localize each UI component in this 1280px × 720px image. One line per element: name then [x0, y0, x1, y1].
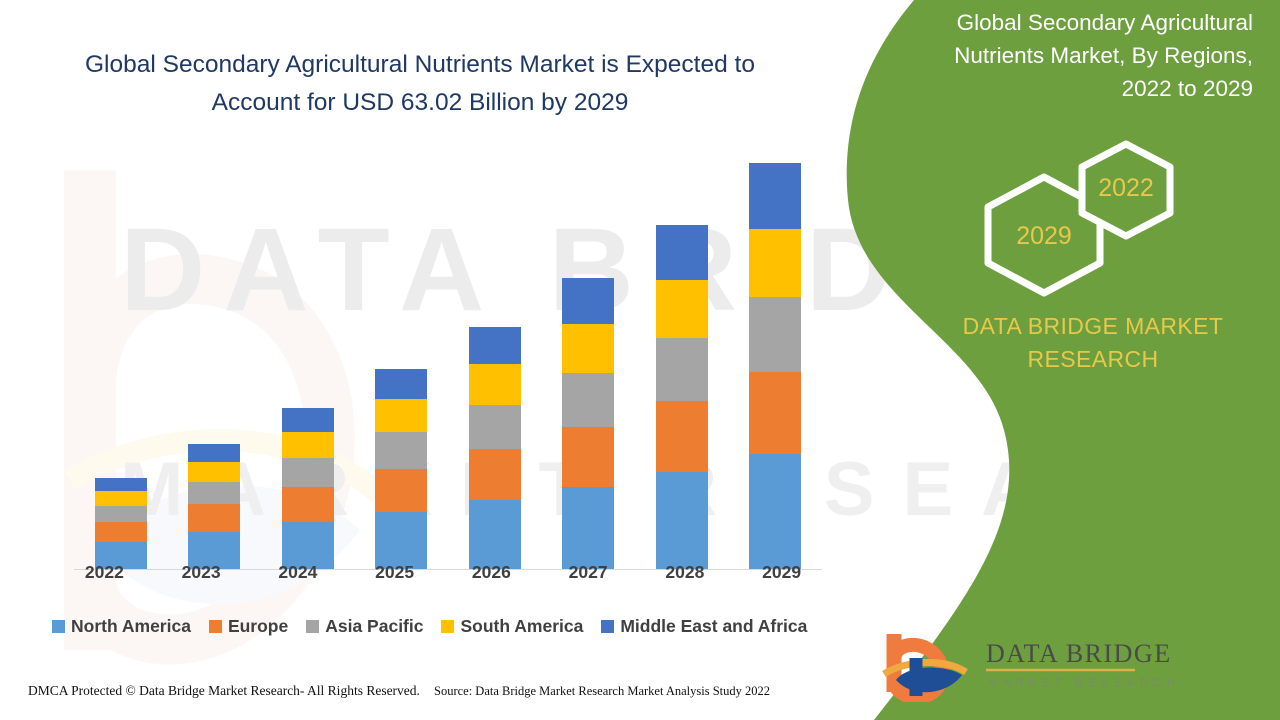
- chart-x-label: 2025: [369, 562, 421, 583]
- chart-bar-segment: [95, 506, 147, 522]
- chart-bar-segment: [656, 280, 708, 338]
- legend-label: South America: [460, 616, 583, 637]
- chart-bar-segment: [282, 458, 334, 488]
- infographic-root: DATA BRIDGE MARKET RESEARCH Global Secon…: [0, 0, 1280, 720]
- chart-bar: [749, 163, 801, 569]
- logo-primary-text: DATA BRIDGE: [986, 639, 1172, 668]
- hexagon-badges: 2029 2022: [978, 140, 1208, 300]
- chart-bar-segment: [188, 462, 240, 482]
- chart-bar-segment: [656, 338, 708, 401]
- chart-bar-segment: [282, 432, 334, 458]
- chart-bar-segment: [95, 478, 147, 490]
- footer-copyright: DMCA Protected © Data Bridge Market Rese…: [28, 683, 420, 699]
- chart-bar-segment: [188, 444, 240, 462]
- chart-bar-segment: [749, 163, 801, 229]
- chart-bar: [375, 369, 427, 569]
- chart-bar: [95, 478, 147, 569]
- chart-bars: [74, 150, 822, 569]
- chart-bar-segment: [562, 324, 614, 373]
- chart-bar-segment: [469, 500, 521, 569]
- chart-bar-segment: [188, 504, 240, 532]
- chart-bar-segment: [282, 408, 334, 431]
- panel-title: Global Secondary Agricultural Nutrients …: [923, 6, 1253, 105]
- legend-item[interactable]: Middle East and Africa: [601, 616, 807, 637]
- chart-bar-segment: [375, 399, 427, 432]
- legend-label: Middle East and Africa: [620, 616, 807, 637]
- chart-x-label: 2022: [78, 562, 130, 583]
- chart-bar-segment: [749, 229, 801, 297]
- chart-bar-segment: [562, 487, 614, 569]
- chart-bar-segment: [375, 432, 427, 469]
- data-bridge-logo: DATA BRIDGE MARKET RESEARCH: [880, 630, 1180, 702]
- chart-bar: [656, 225, 708, 569]
- chart-bar: [282, 408, 334, 569]
- chart-x-axis-labels: 20222023202420252026202720282029: [56, 562, 830, 583]
- legend-swatch-icon: [209, 620, 222, 633]
- logo-secondary-text: MARKET RESEARCH: [988, 677, 1180, 689]
- chart-bar-segment: [656, 401, 708, 472]
- chart-bar-segment: [562, 427, 614, 487]
- chart-x-label: 2028: [659, 562, 711, 583]
- chart-bar-segment: [188, 482, 240, 504]
- chart-bar-segment: [95, 491, 147, 506]
- chart-x-label: 2027: [562, 562, 614, 583]
- chart-legend: North AmericaEuropeAsia PacificSouth Ame…: [52, 616, 832, 637]
- page-title: Global Secondary Agricultural Nutrients …: [40, 46, 800, 122]
- chart-bar-segment: [282, 487, 334, 522]
- legend-label: Europe: [228, 616, 288, 637]
- chart-x-label: 2024: [272, 562, 324, 583]
- chart-bar-segment: [469, 449, 521, 500]
- legend-label: North America: [71, 616, 191, 637]
- chart-bar-segment: [375, 469, 427, 512]
- brand-panel: Global Secondary Agricultural Nutrients …: [818, 0, 1280, 720]
- chart-bar-segment: [375, 369, 427, 399]
- legend-item[interactable]: North America: [52, 616, 191, 637]
- legend-swatch-icon: [601, 620, 614, 633]
- chart-bar-segment: [656, 225, 708, 280]
- legend-item[interactable]: Asia Pacific: [306, 616, 423, 637]
- chart-x-label: 2023: [175, 562, 227, 583]
- stacked-bar-chart: [40, 150, 830, 570]
- brand-name: DATA BRIDGE MARKET RESEARCH: [923, 310, 1263, 376]
- chart-bar-segment: [562, 278, 614, 324]
- hexagon-2022-label: 2022: [1074, 174, 1178, 203]
- chart-plot-area: [58, 150, 830, 570]
- chart-bar: [188, 444, 240, 569]
- chart-bar-segment: [749, 297, 801, 372]
- chart-bar: [469, 327, 521, 569]
- chart-bar-segment: [562, 373, 614, 427]
- chart-bar-segment: [95, 522, 147, 542]
- chart-bar: [562, 278, 614, 569]
- chart-bar-segment: [656, 472, 708, 569]
- legend-swatch-icon: [52, 620, 65, 633]
- chart-bar-segment: [749, 372, 801, 455]
- legend-swatch-icon: [306, 620, 319, 633]
- chart-bar-segment: [469, 364, 521, 405]
- chart-x-label: 2029: [756, 562, 808, 583]
- legend-item[interactable]: South America: [441, 616, 583, 637]
- legend-label: Asia Pacific: [325, 616, 423, 637]
- chart-bar-segment: [375, 512, 427, 569]
- chart-bar-segment: [749, 454, 801, 569]
- legend-item[interactable]: Europe: [209, 616, 288, 637]
- chart-bar-segment: [469, 327, 521, 365]
- footer-source: Source: Data Bridge Market Research Mark…: [434, 684, 770, 699]
- legend-swatch-icon: [441, 620, 454, 633]
- data-bridge-logo-icon: DATA BRIDGE MARKET RESEARCH: [880, 630, 1180, 702]
- chart-bar-segment: [469, 405, 521, 449]
- chart-x-label: 2026: [465, 562, 517, 583]
